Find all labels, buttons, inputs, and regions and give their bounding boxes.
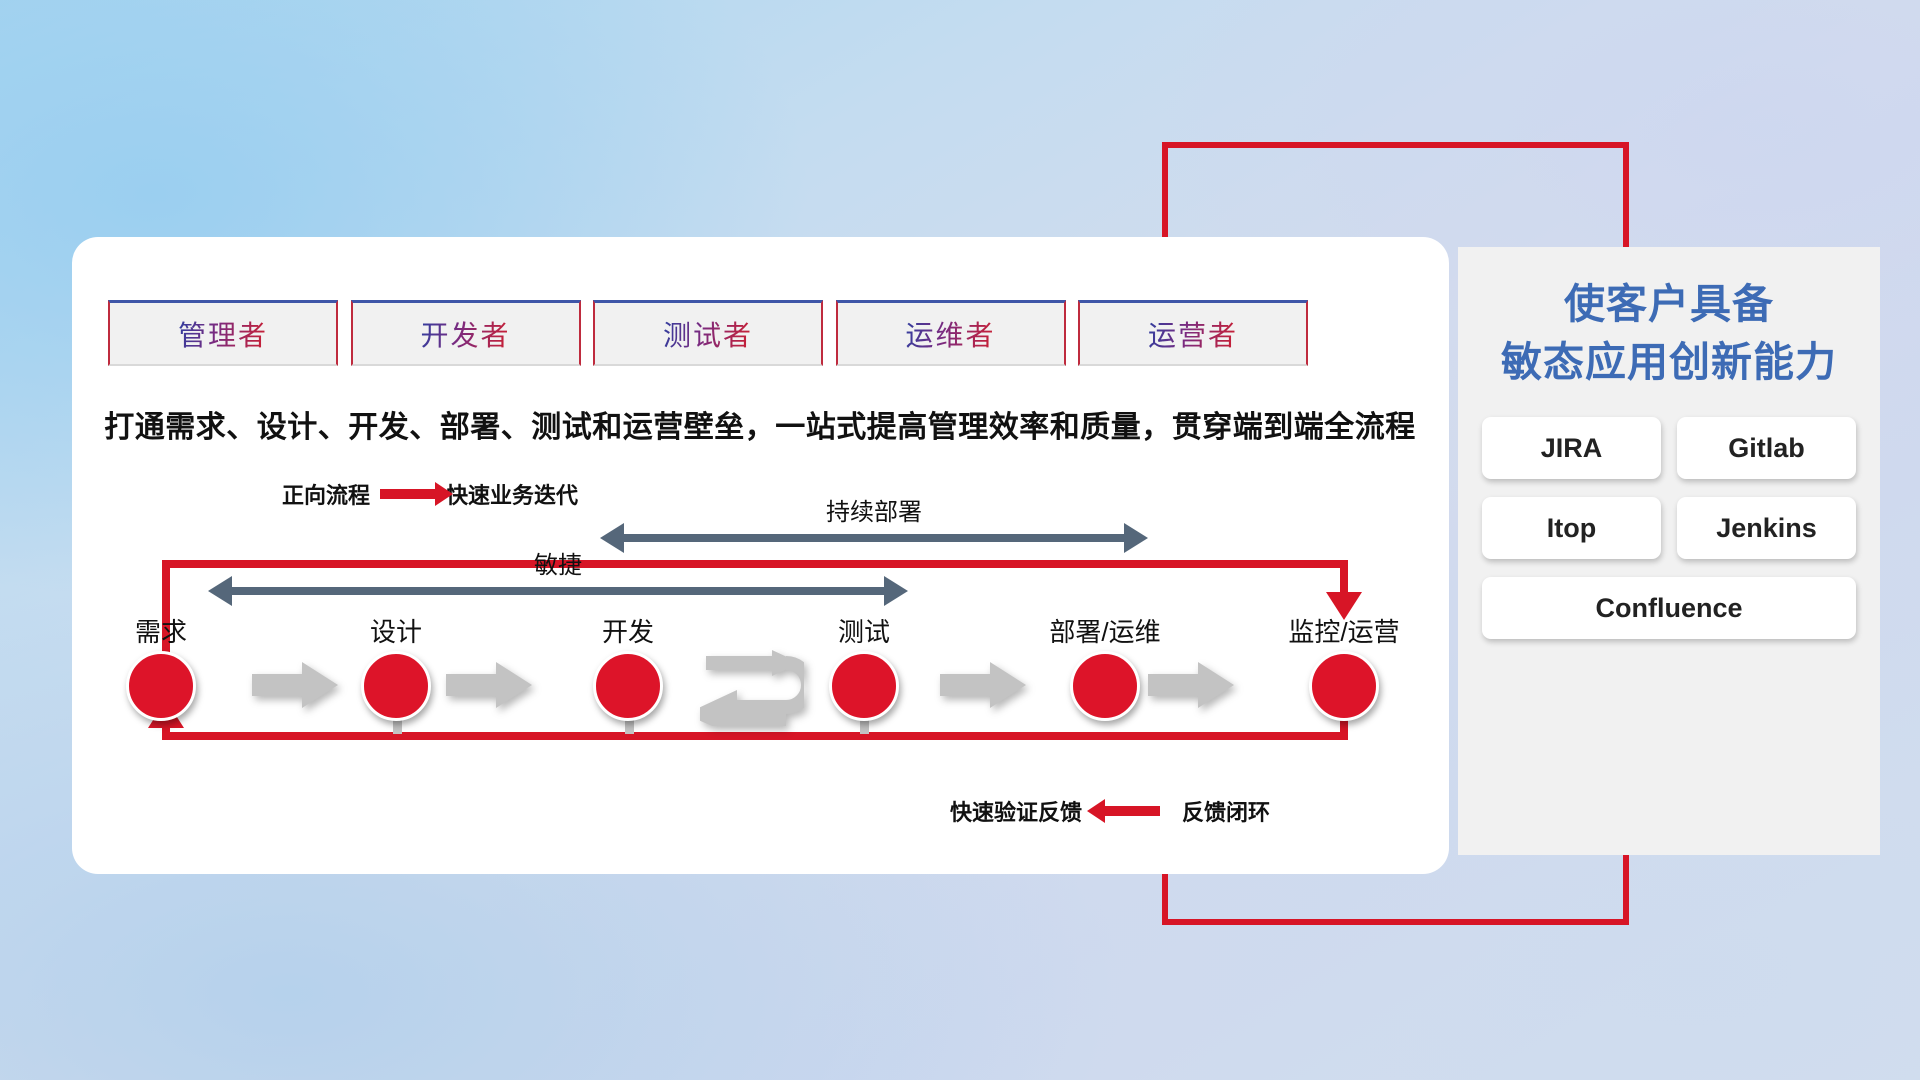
agile-label: 敏捷 — [208, 545, 908, 580]
headline-text: 打通需求、设计、开发、部署、测试和运营壁垒，一站式提高管理效率和质量，贯穿端到端… — [0, 402, 1520, 446]
arrow-left-red-icon — [1104, 806, 1160, 816]
feedback-annotation: 快速验证反馈 反馈闭环 — [950, 795, 1270, 827]
role-box-tester[interactable]: 测试者 — [593, 300, 823, 366]
role-box-operations[interactable]: 运营者 — [1078, 300, 1308, 366]
arrow-up-red-icon — [148, 700, 184, 728]
feedback-loop-label: 反馈闭环 — [1182, 795, 1270, 827]
arrow-left-head-icon — [208, 576, 232, 606]
continuous-deployment-label: 持续部署 — [600, 492, 1148, 527]
panel-title-line-2: 敏态应用创新能力 — [1458, 333, 1880, 391]
role-label: 测试者 — [663, 314, 753, 354]
loop-line-right-lower — [1340, 672, 1348, 740]
arrow-right-head-icon — [1124, 523, 1148, 553]
arrow-line — [622, 534, 1126, 542]
feedback-result-label: 快速验证反馈 — [950, 795, 1082, 827]
panel-title: 使客户具备 敏态应用创新能力 — [1458, 247, 1880, 391]
role-box-developer[interactable]: 开发者 — [351, 300, 581, 366]
forward-flow-label: 正向流程 — [282, 478, 370, 510]
role-label: 运营者 — [1148, 314, 1238, 354]
tool-chip-grid: JIRA Gitlab Itop Jenkins Confluence — [1482, 417, 1856, 639]
tool-chip-itop[interactable]: Itop — [1482, 497, 1661, 559]
tool-chip-jenkins[interactable]: Jenkins — [1677, 497, 1856, 559]
arrow-down-red-icon — [1326, 592, 1362, 620]
arrow-right-head-icon — [884, 576, 908, 606]
panel-title-line-1: 使客户具备 — [1458, 275, 1880, 333]
right-panel: 使客户具备 敏态应用创新能力 JIRA Gitlab Itop Jenkins … — [1458, 247, 1880, 855]
agile-arrow: 敏捷 — [208, 545, 908, 621]
forward-flow-annotation: 正向流程 快速业务迭代 — [282, 478, 578, 510]
role-label: 运维者 — [905, 314, 995, 354]
role-box-row: 管理者 开发者 测试者 运维者 运营者 — [108, 300, 1308, 366]
arrow-line — [230, 587, 886, 595]
role-label: 开发者 — [420, 314, 510, 354]
loop-line-bottom — [162, 732, 1348, 740]
tool-chip-confluence[interactable]: Confluence — [1482, 577, 1856, 639]
role-box-manager[interactable]: 管理者 — [108, 300, 338, 366]
tool-chip-gitlab[interactable]: Gitlab — [1677, 417, 1856, 479]
forward-flow-result: 快速业务迭代 — [446, 478, 578, 510]
loop-line-right-upper — [1340, 560, 1348, 596]
arrow-right-red-icon — [380, 489, 436, 499]
role-label: 管理者 — [178, 314, 268, 354]
role-box-ops[interactable]: 运维者 — [836, 300, 1066, 366]
